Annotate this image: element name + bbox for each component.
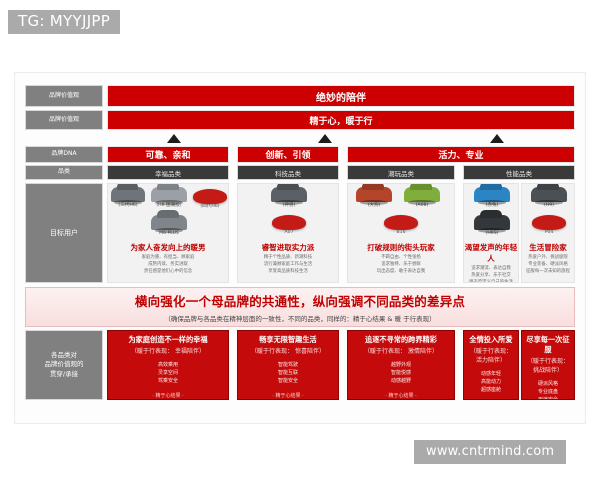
persona-title-4: 生活冒险家	[522, 242, 574, 253]
bottom-panel-title: 追逐不寻常的跨界精彩	[351, 335, 451, 345]
bottom-panel-title: 畅享无限智趣生活	[241, 335, 335, 345]
persona-cars-3: (赤兔) (H6S)	[464, 184, 518, 240]
brand-value-1-label: 品牌价值观	[25, 85, 103, 107]
car-1-0: (神兽)	[271, 187, 307, 209]
slide-canvas: 品牌价值观 绝妙的陪伴 品牌价值观 精于心，暖于行 品牌DNA 可靠、亲和 创新…	[14, 72, 586, 424]
category-item-3: 性能品类	[463, 165, 575, 180]
red-blob-icon	[532, 215, 566, 230]
category-label: 品类	[25, 165, 103, 180]
persona-title-1: 睿智进取实力派	[238, 242, 338, 253]
target-user-label: 目标用户	[25, 183, 103, 283]
brand-value-2-label: 品牌价值观	[25, 110, 103, 130]
bottom-panel-footer: · 精于心结果 ·	[241, 392, 335, 399]
bottom-panel-items: 高效乘用灵享空间驾乘安全	[111, 361, 225, 385]
slide-page: TG: MYYJJPP 品牌价值观 绝妙的陪伴 品牌价值观 精于心，暖于行 品牌…	[0, 0, 600, 480]
car-3-0: (赤兔)	[474, 187, 510, 209]
connector-arrow-1	[167, 134, 181, 143]
persona-column-1: (神兽) A07 睿智进取实力派 精于个性品质、新潮科技流行兼顾家庭工作与生活享…	[237, 183, 339, 283]
persona-column-0: (三代H6) (H6 国潮版) (四代H6) M6 PLUS 为家人奋发向上的暖…	[107, 183, 229, 283]
persona-cars-1: (神兽) A07	[238, 184, 338, 240]
car-0-1: (H6 国潮版)	[151, 187, 187, 209]
dna-item-2: 活力、专业	[347, 146, 575, 163]
persona-cars-2: (大狗) (A08) B16	[348, 184, 454, 240]
brand-value-1-value: 绝妙的陪伴	[107, 85, 575, 107]
car-3-1: (H6S)	[474, 215, 510, 237]
bottom-panel-1: 畅享无限智趣生活 （暖于行表现： 惊喜陪伴） 智能驾驶智能互联智能安全 · 精于…	[237, 330, 339, 400]
red-blob-icon	[193, 189, 227, 204]
persona-column-4: (H9) P04 生活冒险家 热爱户外、挑战极限专业装备、硬派风格征服每一次未知…	[521, 183, 575, 283]
headline-banner: 横向强化一个母品牌的共通性，纵向强调不同品类的差异点 （确保品牌与各品类在精神层…	[25, 287, 575, 327]
bottom-watermark-url: www.cntrmind.com	[414, 440, 566, 464]
connector-arrow-3	[490, 134, 504, 143]
banner-headline: 横向强化一个母品牌的共通性，纵向强调不同品类的差异点	[135, 291, 465, 310]
persona-column-2: (大狗) (A08) B16 打破规则的街头玩家 不羁自由、个性张扬追求独特、乐…	[347, 183, 455, 283]
red-blob-icon	[384, 215, 418, 230]
bottom-panel-items: 动感年轻高能动力超感座舱	[467, 370, 515, 394]
bottom-panel-items: 硬派风格专业底盘用途安全	[525, 380, 571, 400]
dna-item-1: 创新、引领	[237, 146, 339, 163]
car-4-0: (H9)	[531, 187, 567, 209]
top-watermark-tag: TG: MYYJJPP	[8, 10, 120, 34]
bottom-panel-sub: （暖于行表现： 活力陪伴）	[467, 346, 515, 364]
car-label: B16	[397, 230, 406, 235]
dna-item-0: 可靠、亲和	[107, 146, 229, 163]
category-item-1: 科技品类	[237, 165, 339, 180]
bottom-panel-items: 智能驾驶智能互联智能安全	[241, 361, 335, 385]
car-4-1: P04	[532, 215, 566, 236]
red-blob-icon	[272, 215, 306, 230]
car-1-1: A07	[272, 215, 306, 236]
brand-dna-label: 品牌DNA	[25, 146, 103, 163]
car-label: A07	[285, 230, 294, 235]
car-label: (四代H6)	[200, 204, 219, 209]
banner-subline: （确保品牌与各品类在精神层面的一致性，不同的品类，同样的：精于心结果 & 暖 于…	[164, 313, 435, 323]
bottom-panel-footer: · 精于心结果 ·	[111, 392, 225, 399]
bottom-panel-sub: （暖于行表现： 惊喜陪伴）	[241, 346, 335, 355]
persona-column-3: (赤兔) (H6S) 渴望发声的年轻人 追求潮流、表达自我热爱分享、乐于社交用态…	[463, 183, 519, 283]
bottom-panel-3: 全情投入所爱 （暖于行表现： 活力陪伴） 动感年轻高能动力超感座舱 · 精于心结…	[463, 330, 519, 400]
car-2-2: B16	[384, 215, 418, 236]
persona-cars-4: (H9) P04	[522, 184, 574, 240]
car-0-0: (三代H6)	[111, 187, 145, 209]
bottom-panel-title: 为家庭创造不一样的幸福	[111, 335, 225, 345]
car-2-1: (A08)	[404, 187, 440, 209]
bottom-panel-0: 为家庭创造不一样的幸福 （暖于行表现： 幸福陪伴） 高效乘用灵享空间驾乘安全 ·…	[107, 330, 229, 400]
car-0-2: (四代H6)	[193, 189, 227, 210]
persona-title-3: 渴望发声的年轻人	[464, 242, 518, 264]
bottom-row-label: 各品类对品牌价值观的贯穿/承接	[25, 330, 103, 400]
persona-desc-1: 精于个性品质、新潮科技流行兼顾家庭工作与生活享受高品质科技生活	[238, 255, 338, 275]
category-item-0: 幸福品类	[107, 165, 229, 180]
persona-desc-3: 追求潮流、表达自我热爱分享、乐于社交用态度定义自己的生活	[464, 266, 518, 283]
bottom-panel-sub: （暖于行表现： 激情陪伴）	[351, 346, 451, 355]
car-label: P04	[545, 230, 554, 235]
category-item-2: 潮玩品类	[347, 165, 455, 180]
persona-desc-4: 热爱户外、挑战极限专业装备、硬派风格征服每一次未知的旅程	[522, 255, 574, 275]
car-0-3: M6 PLUS	[151, 215, 187, 237]
brand-value-2-value: 精于心，暖于行	[107, 110, 575, 130]
bottom-panel-title: 尽享每一次征服	[525, 335, 571, 355]
bottom-panel-title: 全情投入所爱	[467, 335, 515, 345]
bottom-panel-footer: · 精于心结果 ·	[351, 392, 451, 399]
persona-desc-2: 不羁自由、个性张扬追求独特、乐于尝鲜玩出态度、敢于表达自我	[348, 255, 454, 275]
bottom-panel-sub: （暖于行表现： 幸福陪伴）	[111, 346, 225, 355]
bottom-panel-sub: （暖于行表现： 挑战陪伴）	[525, 356, 571, 374]
bottom-panel-4: 尽享每一次征服 （暖于行表现： 挑战陪伴） 硬派风格专业底盘用途安全 · 精于心…	[521, 330, 575, 400]
persona-title-0: 为家人奋发向上的暖男	[108, 242, 228, 253]
bottom-panel-items: 越野外观智能悦感动感越野	[351, 361, 451, 385]
bottom-panel-2: 追逐不寻常的跨界精彩 （暖于行表现： 激情陪伴） 越野外观智能悦感动感越野 · …	[347, 330, 455, 400]
connector-arrow-2	[318, 134, 332, 143]
persona-title-2: 打破规则的街头玩家	[348, 242, 454, 253]
persona-desc-0: 家庭为重、有担当、顾家庭成熟内敛、务实进取责任感是他们心中的信念	[108, 255, 228, 275]
persona-cars-0: (三代H6) (H6 国潮版) (四代H6) M6 PLUS	[108, 184, 228, 240]
car-2-0: (大狗)	[356, 187, 392, 209]
